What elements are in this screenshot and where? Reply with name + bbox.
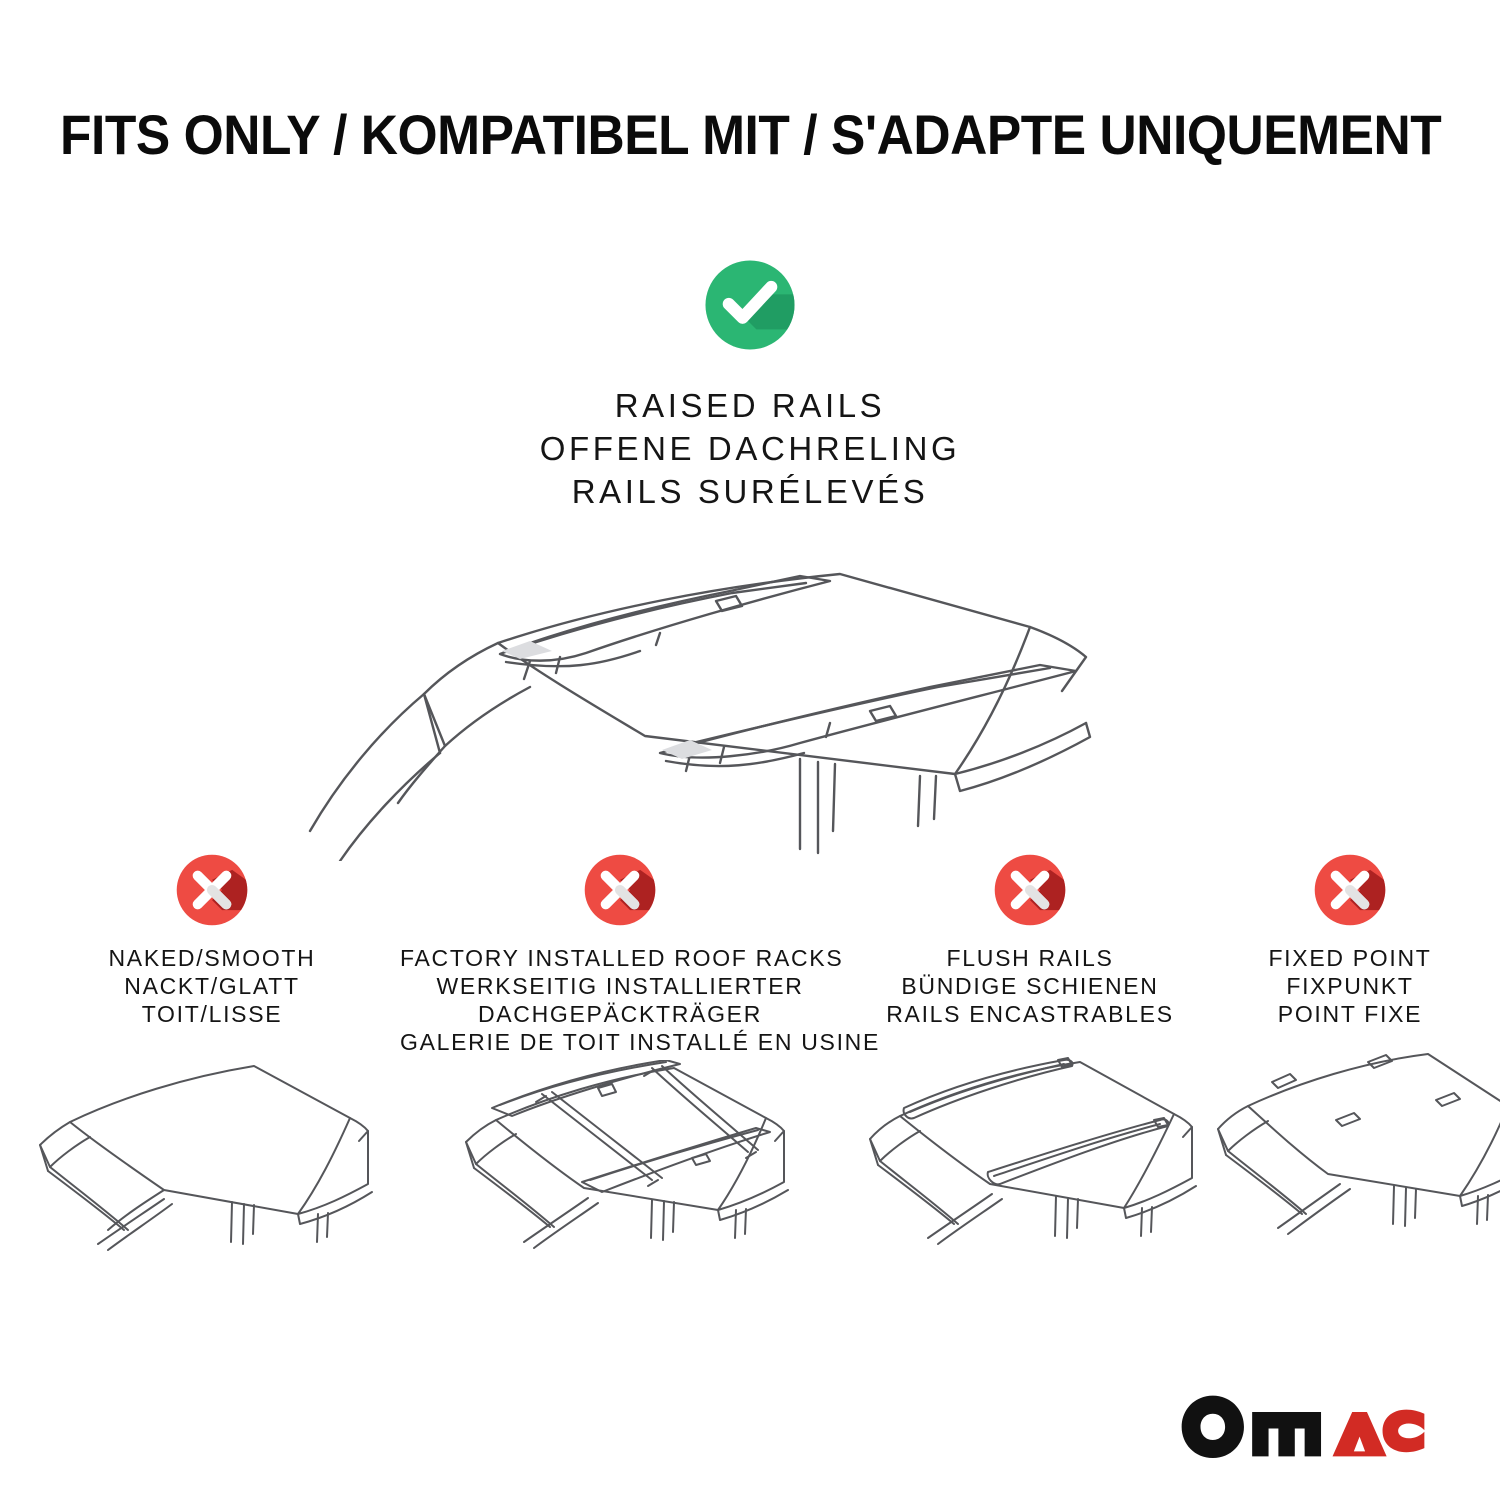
compatible-section: RAISED RAILS OFFENE DACHRELING RAILS SUR… — [0, 252, 1500, 861]
incompatible-label-en: FLUSH RAILS — [848, 944, 1212, 972]
x-circle-icon — [170, 848, 254, 932]
incompatible-column-flush-rails: FLUSH RAILS BÜNDIGE SCHIENEN RAILS ENCAS… — [848, 848, 1212, 1279]
incompatible-label-en: NAKED/SMOOTH — [22, 944, 402, 972]
incompatible-label-en: FACTORY INSTALLED ROOF RACKS — [400, 944, 840, 972]
incompatible-labels: FACTORY INSTALLED ROOF RACKS WERKSEITIG … — [400, 944, 840, 1056]
logo-letter-o — [1182, 1396, 1244, 1458]
x-circle-icon — [988, 848, 1072, 932]
incompatible-label-fr: POINT FIXE — [1208, 1000, 1492, 1028]
car-roof-flush-rails-illustration — [848, 1044, 1228, 1279]
incompatible-labels: FLUSH RAILS BÜNDIGE SCHIENEN RAILS ENCAS… — [848, 944, 1212, 1028]
incompatible-label-de: FIXPUNKT — [1208, 972, 1492, 1000]
logo-letter-c — [1383, 1410, 1425, 1453]
incompatible-label-de: NACKT/GLATT — [22, 972, 402, 1000]
x-circle-icon — [1308, 848, 1392, 932]
car-roof-fixed-point-illustration — [1208, 1044, 1500, 1274]
incompatible-label-fr: GALERIE DE TOIT INSTALLÉ EN USINE — [400, 1028, 840, 1056]
compatible-labels: RAISED RAILS OFFENE DACHRELING RAILS SUR… — [0, 384, 1500, 513]
car-roof-raised-rails-illustration — [0, 531, 1500, 861]
incompatible-column-factory-roof-racks: FACTORY INSTALLED ROOF RACKS WERKSEITIG … — [400, 848, 840, 1300]
page-title: FITS ONLY / KOMPATIBEL MIT / S'ADAPTE UN… — [60, 104, 1440, 166]
compatible-label-fr: RAILS SURÉLEVÉS — [0, 470, 1500, 513]
incompatible-column-fixed-point: FIXED POINT FIXPUNKT POINT FIXE — [1208, 848, 1492, 1274]
incompatible-label-fr: TOIT/LISSE — [22, 1000, 402, 1028]
compatible-label-en: RAISED RAILS — [0, 384, 1500, 427]
incompatible-label-fr: RAILS ENCASTRABLES — [848, 1000, 1212, 1028]
compatible-label-de: OFFENE DACHRELING — [0, 427, 1500, 470]
incompatible-label-de-2: DACHGEPÄCKTRÄGER — [400, 1000, 840, 1028]
header: FITS ONLY / KOMPATIBEL MIT / S'ADAPTE UN… — [0, 104, 1500, 166]
incompatible-labels: FIXED POINT FIXPUNKT POINT FIXE — [1208, 944, 1492, 1028]
logo-letter-m — [1252, 1412, 1321, 1456]
incompatible-label-de-1: WERKSEITIG INSTALLIERTER — [400, 972, 840, 1000]
incompatible-label-de: BÜNDIGE SCHIENEN — [848, 972, 1212, 1000]
check-circle-icon — [697, 252, 803, 358]
omac-logo: OMAC — [1180, 1396, 1426, 1458]
logo-letter-a — [1333, 1412, 1387, 1456]
x-circle-icon — [578, 848, 662, 932]
incompatible-labels: NAKED/SMOOTH NACKT/GLATT TOIT/LISSE — [22, 944, 402, 1028]
incompatible-label-en: FIXED POINT — [1208, 944, 1492, 972]
incompatible-column-naked-smooth: NAKED/SMOOTH NACKT/GLATT TOIT/LISSE — [22, 848, 402, 1274]
car-roof-naked-smooth-illustration — [32, 1044, 392, 1274]
omac-logo-mark — [1180, 1394, 1426, 1458]
incompatible-section: NAKED/SMOOTH NACKT/GLATT TOIT/LISSE — [0, 848, 1500, 1308]
car-roof-factory-roof-racks-illustration — [430, 1060, 810, 1300]
